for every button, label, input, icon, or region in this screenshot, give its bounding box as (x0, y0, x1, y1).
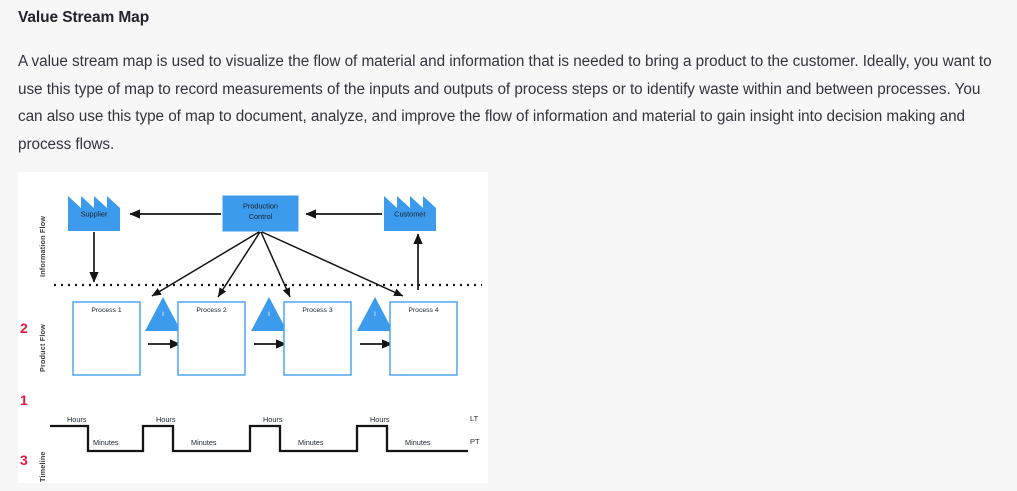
timeline-lower-label-3: Minutes (298, 438, 324, 447)
inventory-triangle-3-label: I (374, 311, 376, 318)
arrow-production-control-to-process-1 (218, 232, 260, 297)
page-title: Value Stream Map (18, 9, 149, 27)
node-supplier[interactable]: Supplier (68, 196, 120, 231)
timeline-upper-label-3: Hours (263, 415, 283, 424)
inventory-triangle-3[interactable]: I (357, 297, 393, 331)
timeline-lead-time-label: LT (470, 414, 479, 423)
timeline-process-time-label: PT (470, 437, 480, 446)
process-box-4-label: Process 4 (408, 307, 438, 314)
arrow-production-control-to-process-3 (262, 232, 403, 296)
production-control-label-line2: Control (249, 212, 273, 221)
process-box-2[interactable]: Process 2 (178, 302, 245, 375)
arrow-production-control-to-process-2 (261, 232, 290, 297)
timeline-upper-label-2: Hours (156, 415, 176, 424)
timeline-upper-label-1: Hours (67, 415, 87, 424)
timeline-lower-label-2: Minutes (191, 438, 217, 447)
process-box-3-label: Process 3 (302, 307, 332, 314)
process-box-4[interactable]: Process 4 (390, 302, 457, 375)
process-box-2-label: Process 2 (196, 307, 226, 314)
arrow-production-control-to-process-4 (152, 232, 259, 296)
process-box-1-label: Process 1 (91, 307, 121, 314)
process-box-1[interactable]: Process 1 (73, 302, 140, 375)
timeline-lower-label-4: Minutes (405, 438, 431, 447)
inventory-triangle-1-label: I (162, 311, 164, 318)
inventory-triangle-2-label: I (268, 311, 270, 318)
inventory-triangle-2[interactable]: I (251, 297, 287, 331)
value-stream-map-card: 1 Information Flow 2 Product Flow 3 Time… (18, 172, 488, 483)
intro-paragraph: A value stream map is used to visualize … (18, 48, 1006, 158)
node-supplier-label: Supplier (81, 210, 108, 219)
timeline-upper-label-4: Hours (370, 415, 390, 424)
inventory-triangle-1[interactable]: I (145, 297, 181, 331)
process-box-3[interactable]: Process 3 (284, 302, 351, 375)
vsm-diagram-svg: Supplier Production Control Customer (18, 172, 488, 483)
node-customer[interactable]: Customer (384, 196, 436, 231)
production-control-label-line1: Production (243, 202, 278, 211)
node-customer-label: Customer (394, 210, 426, 219)
timeline-lower-label-1: Minutes (93, 438, 119, 447)
node-production-control[interactable]: Production Control (223, 196, 298, 231)
